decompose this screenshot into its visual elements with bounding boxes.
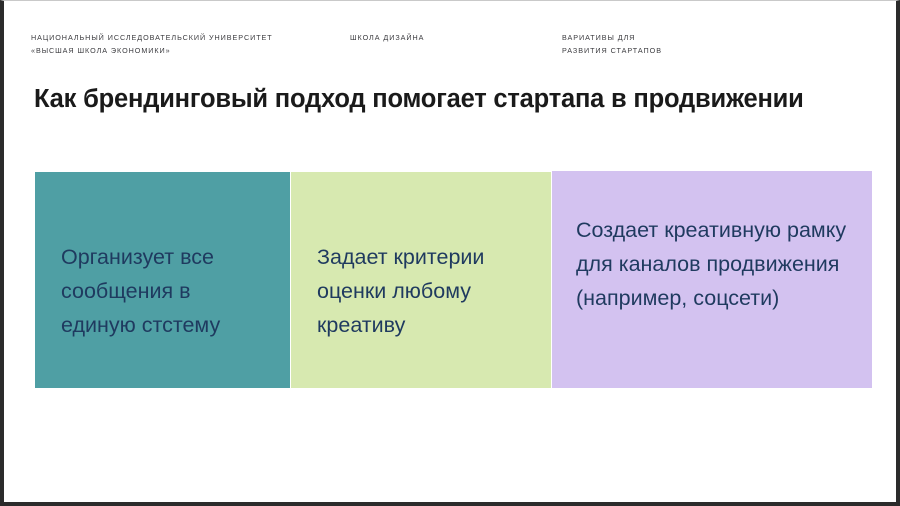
slide-canvas: НАЦИОНАЛЬНЫЙ ИССЛЕДОВАТЕЛЬСКИЙ УНИВЕРСИТ…: [4, 1, 896, 502]
slide-frame: НАЦИОНАЛЬНЫЙ ИССЛЕДОВАТЕЛЬСКИЙ УНИВЕРСИТ…: [0, 0, 900, 506]
benefit-card-criteria: Задает критерии оценки любому креативу: [291, 172, 551, 388]
benefit-card-creative-frame-text: Создает креативную рамку для каналов про…: [576, 213, 854, 315]
header-university: НАЦИОНАЛЬНЫЙ ИССЛЕДОВАТЕЛЬСКИЙ УНИВЕРСИТ…: [31, 31, 273, 57]
page-title: Как брендинговый подход помогает стартап…: [34, 83, 854, 115]
benefit-card-creative-frame: Создает креативную рамку для каналов про…: [552, 171, 872, 388]
header-program: ВАРИАТИВЫ ДЛЯ РАЗВИТИЯ СТАРТАПОВ: [562, 31, 662, 57]
benefit-card-organizes: Организует все сообщения в единую стстем…: [35, 172, 290, 388]
benefit-card-organizes-text: Организует все сообщения в единую стстем…: [61, 240, 270, 342]
header-school: ШКОЛА ДИЗАЙНА: [350, 31, 424, 44]
benefit-card-criteria-text: Задает критерии оценки любому креативу: [317, 240, 533, 342]
